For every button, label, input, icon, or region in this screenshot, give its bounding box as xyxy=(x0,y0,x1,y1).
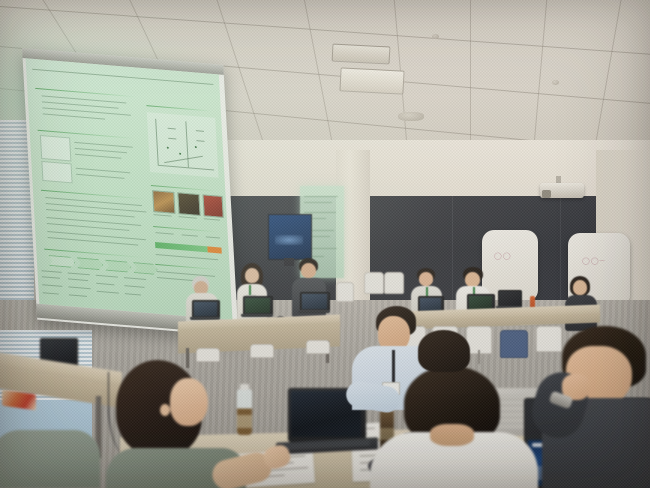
attendee-11-body xyxy=(0,430,100,488)
chair-mid-1 xyxy=(364,272,384,294)
slide-thumbnail-2 xyxy=(177,192,200,216)
attendee-5-head xyxy=(465,272,480,287)
chair-back-2 xyxy=(250,344,274,358)
chair-row-4 xyxy=(500,330,528,358)
table-back-left-leg-1 xyxy=(186,348,189,368)
flow-step-4 xyxy=(133,262,158,275)
whiteboard-right-marks: ◯◯─ xyxy=(582,257,606,265)
chair-row-5 xyxy=(536,326,562,352)
attendee-12-hair xyxy=(418,330,470,372)
wall-seam-2 xyxy=(452,196,453,314)
slide-thumbnail-3 xyxy=(202,194,223,218)
chair-mid-3 xyxy=(336,282,354,302)
bottle-label xyxy=(237,415,252,428)
chair-back-1 xyxy=(196,348,220,362)
ceiling-speaker-2 xyxy=(552,80,559,85)
attendee-2-head xyxy=(245,268,259,283)
chair-leg-3 xyxy=(478,350,480,364)
projector-lens xyxy=(542,190,551,198)
monitor-stand xyxy=(284,258,294,266)
slide-thumbnail-1 xyxy=(152,190,175,214)
attendee-4-head xyxy=(419,272,433,286)
attendee-8-lanyard xyxy=(392,350,395,384)
wall-seam-3 xyxy=(560,196,561,314)
attendee-3-head xyxy=(301,263,316,278)
ceiling-speaker-3 xyxy=(398,112,424,121)
attendee-9-neck xyxy=(430,424,474,446)
flow-step-1 xyxy=(49,255,76,268)
chair-back-3 xyxy=(306,340,330,354)
wall-monitor xyxy=(268,214,312,260)
chair-mid-2 xyxy=(384,272,404,294)
attendee-7-head xyxy=(170,378,208,426)
slide-status-alert xyxy=(207,246,221,253)
ceiling-vent-1 xyxy=(332,43,391,64)
slide-status-bar xyxy=(155,242,208,252)
flow-step-3 xyxy=(105,260,132,273)
monitor-glow xyxy=(275,235,303,245)
ceiling-speaker-1 xyxy=(432,34,439,39)
attendee-6-head xyxy=(573,280,587,295)
ceiling-vent-2 xyxy=(339,67,404,94)
attendee-7-ear xyxy=(160,404,170,416)
meeting-room-photo: ◯◯ ◯◯─ xyxy=(0,0,650,488)
flow-step-2 xyxy=(77,257,104,270)
whiteboard-left-marks: ◯◯ xyxy=(494,252,512,260)
